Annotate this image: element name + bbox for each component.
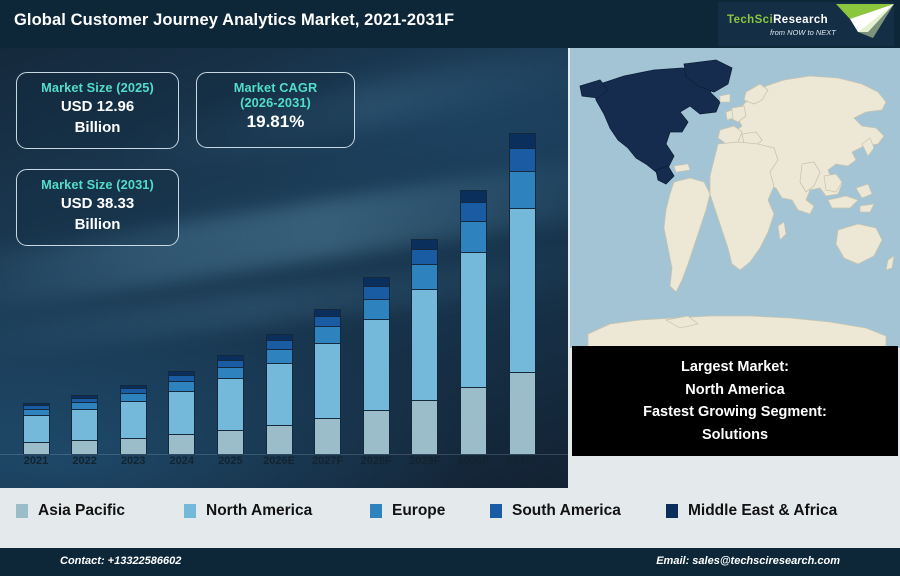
bar-2028F <box>363 277 390 455</box>
stat-card-market-cagr: Market CAGR (2026-2031) 19.81% <box>196 72 355 148</box>
bar-segment-europe <box>460 221 487 252</box>
bar-segment-north-america <box>120 401 147 437</box>
stat-card-value: 19.81% <box>197 110 354 134</box>
legend-label: Europe <box>392 502 445 520</box>
footer-bar: Contact: +13322586602 Email: sales@techs… <box>0 548 900 576</box>
world-map-icon <box>570 48 900 348</box>
stat-card-value-line1: USD 38.33 <box>17 193 178 214</box>
bar-segment-europe <box>168 381 195 391</box>
bar-segment-europe <box>120 393 147 401</box>
bar-2030F <box>460 190 487 455</box>
legend-item-middle-east-africa[interactable]: Middle East & Africa <box>666 502 837 520</box>
logo-name-part1: TechSci <box>727 14 773 26</box>
bar-segment-north-america <box>71 409 98 441</box>
bar-segment-europe <box>363 299 390 319</box>
bar-segment-north-america <box>23 415 50 442</box>
bar-segment-south-america <box>217 360 244 367</box>
bar-segment-middle-east-africa <box>363 277 390 286</box>
footer-contact: Contact: +13322586602 <box>60 555 181 567</box>
brand-logo: TechSciResearch from NOW to NEXT <box>718 2 894 46</box>
bar-2031F <box>509 133 536 455</box>
bar-segment-middle-east-africa <box>509 133 536 148</box>
logo-wordmark: TechSciResearch <box>727 14 828 26</box>
stat-card-title: Market Size (2025) <box>17 80 178 96</box>
infographic-root: Global Customer Journey Analytics Market… <box>0 0 900 576</box>
bar-segment-asia-pacific <box>509 372 536 456</box>
bar-segment-asia-pacific <box>363 410 390 455</box>
bar-segment-asia-pacific <box>71 440 98 455</box>
bar-segment-asia-pacific <box>120 438 147 455</box>
bar-segment-north-america <box>411 289 438 400</box>
bar-segment-asia-pacific <box>266 425 293 455</box>
bar-segment-north-america <box>168 391 195 434</box>
bar-2022 <box>71 395 98 455</box>
bar-segment-north-america <box>217 378 244 430</box>
bar-segment-europe <box>509 171 536 208</box>
bar-segment-europe <box>314 326 341 343</box>
stat-card-market-size-2025: Market Size (2025) USD 12.96 Billion <box>16 72 179 149</box>
bar-segment-north-america <box>509 208 536 372</box>
legend-item-europe[interactable]: Europe <box>370 502 445 520</box>
x-axis-label-2031F: 2031F <box>492 455 552 467</box>
bar-segment-europe <box>411 264 438 289</box>
highlight-info-box: Largest Market: North America Fastest Gr… <box>572 346 898 456</box>
bar-segment-north-america <box>460 252 487 387</box>
stat-card-market-size-2031: Market Size (2031) USD 38.33 Billion <box>16 169 179 246</box>
stat-card-value-line2: Billion <box>17 117 178 138</box>
bar-segment-middle-east-africa <box>460 190 487 203</box>
bar-segment-asia-pacific <box>168 434 195 455</box>
bar-segment-middle-east-africa <box>411 239 438 249</box>
legend-label: South America <box>512 502 621 520</box>
legend-swatch-icon <box>666 504 678 518</box>
bar-segment-asia-pacific <box>314 418 341 455</box>
chart-panel: Market Size (2025) USD 12.96 Billion Mar… <box>0 48 568 488</box>
highlight-line-3: Fastest Growing Segment: <box>643 401 827 424</box>
bar-2023 <box>120 385 147 455</box>
bar-2027F <box>314 309 341 455</box>
logo-name-part2: Research <box>773 14 828 26</box>
bar-2021 <box>23 403 50 455</box>
legend-swatch-icon <box>370 504 382 518</box>
bar-segment-north-america <box>266 363 293 425</box>
legend-item-north-america[interactable]: North America <box>184 502 312 520</box>
stat-card-value-line1: USD 12.96 <box>17 96 178 117</box>
legend-swatch-icon <box>184 504 196 518</box>
bar-segment-north-america <box>314 343 341 418</box>
highlight-line-4: Solutions <box>702 424 768 447</box>
bar-segment-middle-east-africa <box>314 309 341 316</box>
bar-segment-europe <box>217 367 244 378</box>
world-map <box>570 48 900 348</box>
bar-segment-south-america <box>314 316 341 326</box>
legend-item-asia-pacific[interactable]: Asia Pacific <box>16 502 125 520</box>
legend-item-south-america[interactable]: South America <box>490 502 621 520</box>
stat-card-value-line2: Billion <box>17 214 178 235</box>
legend-label: Asia Pacific <box>38 502 125 520</box>
bar-2024 <box>168 371 195 455</box>
legend-swatch-icon <box>16 504 28 518</box>
bar-segment-south-america <box>509 148 536 170</box>
bar-segment-europe <box>266 349 293 363</box>
legend-swatch-icon <box>490 504 502 518</box>
legend-label: Middle East & Africa <box>688 502 837 520</box>
legend-label: North America <box>206 502 312 520</box>
header-bar: Global Customer Journey Analytics Market… <box>0 0 900 48</box>
bar-segment-europe <box>71 402 98 409</box>
stat-card-title: Market Size (2031) <box>17 177 178 193</box>
page-title: Global Customer Journey Analytics Market… <box>14 11 454 30</box>
bar-segment-asia-pacific <box>217 430 244 455</box>
stat-card-title-line1: Market CAGR <box>197 80 354 95</box>
logo-tagline: from NOW to NEXT <box>770 28 836 37</box>
bar-segment-south-america <box>266 340 293 349</box>
bar-segment-north-america <box>363 319 390 410</box>
stat-card-title-line2: (2026-2031) <box>197 95 354 110</box>
bar-2026E <box>266 334 293 455</box>
highlight-line-2: North America <box>685 379 784 402</box>
bar-segment-south-america <box>460 202 487 220</box>
footer-email: Email: sales@techsciresearch.com <box>656 555 840 567</box>
bar-segment-asia-pacific <box>411 400 438 455</box>
bar-segment-asia-pacific <box>460 387 487 455</box>
chart-legend: Asia PacificNorth AmericaEuropeSouth Ame… <box>0 488 900 534</box>
x-axis-labels: 202120222023202420252026E2027F2028F2029F… <box>0 455 568 477</box>
bar-2025 <box>217 355 244 455</box>
bar-segment-south-america <box>411 249 438 264</box>
highlight-line-1: Largest Market: <box>681 356 789 379</box>
bar-segment-south-america <box>363 286 390 299</box>
bar-2029F <box>411 239 438 455</box>
